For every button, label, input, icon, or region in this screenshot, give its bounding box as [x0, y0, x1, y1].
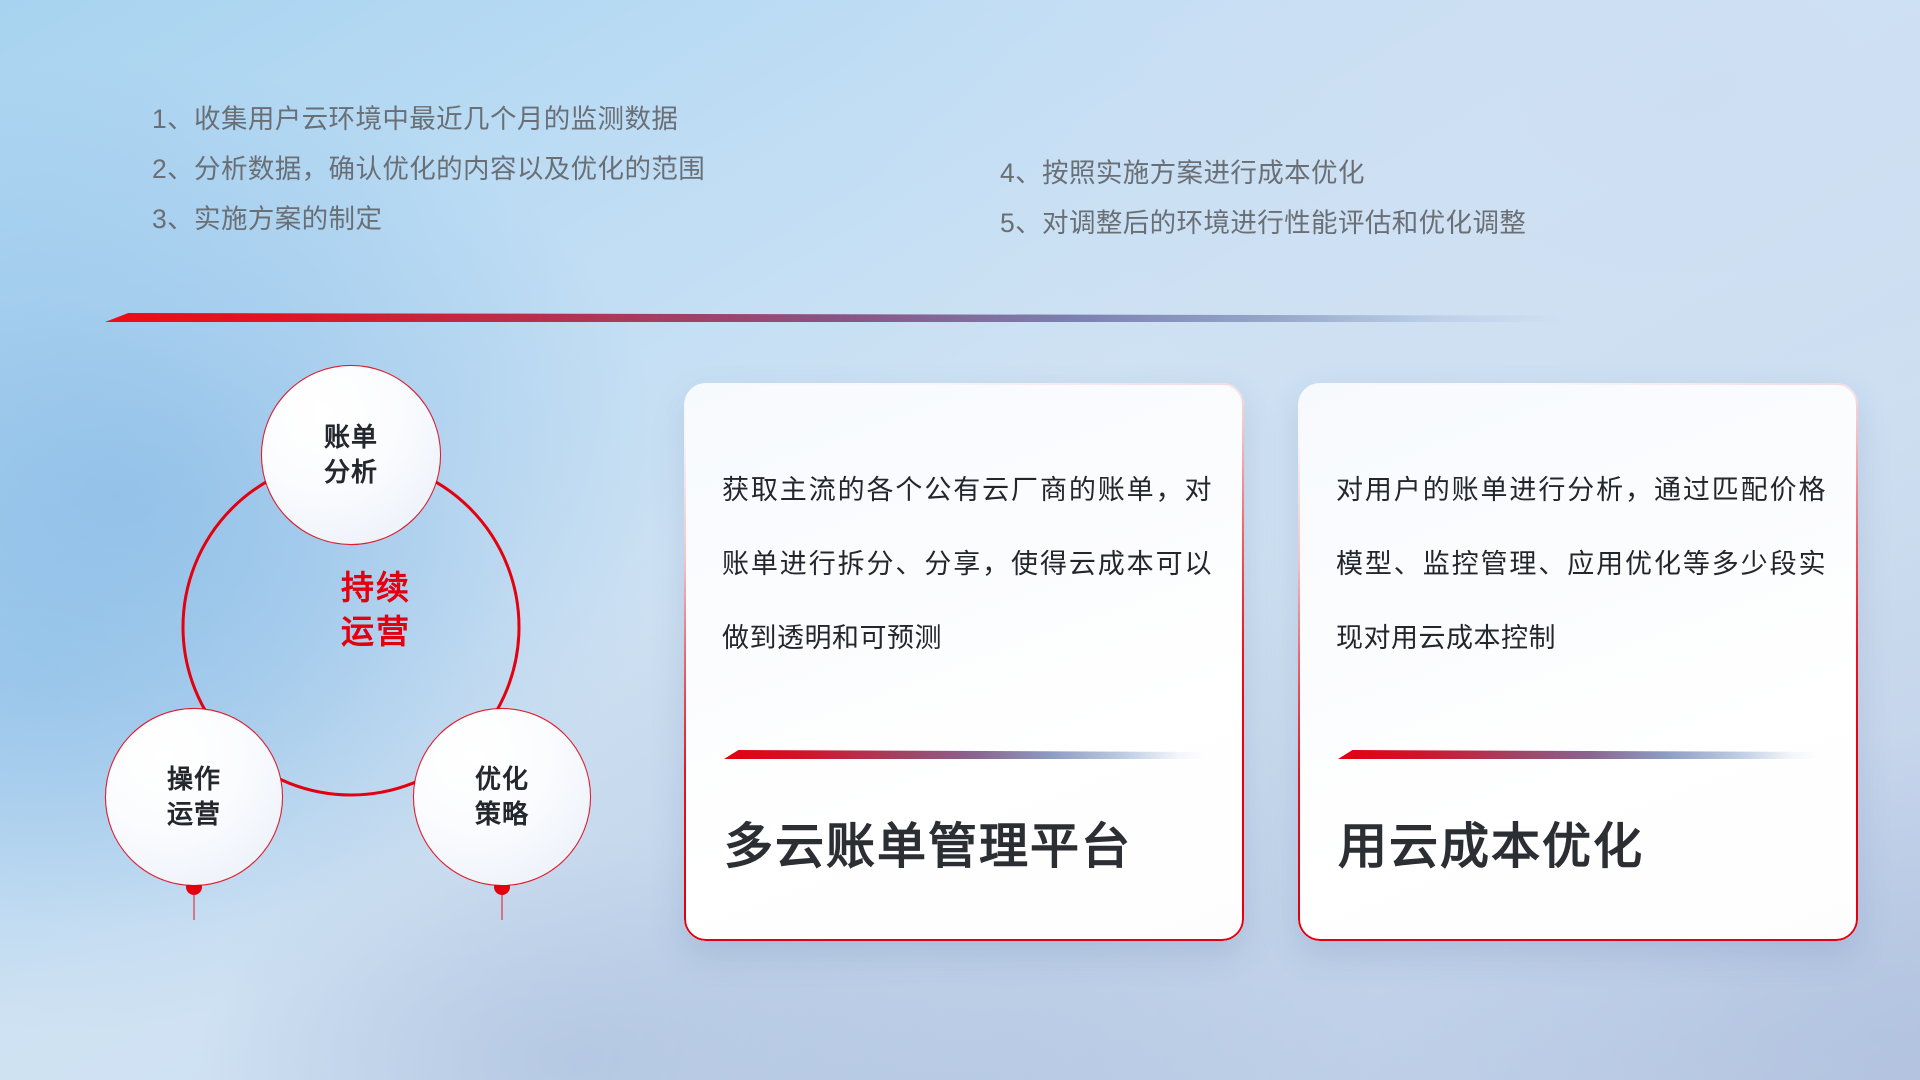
step-item-3: 3、实施方案的制定 — [152, 194, 852, 244]
cycle-bubble-billing-analysis-line1: 账单 — [324, 420, 378, 455]
cycle-diagram: 账单 分析 操作 运营 优化 策略 持续 运营 — [96, 352, 656, 932]
steps-left-column: 1、收集用户云环境中最近几个月的监测数据 2、分析数据，确认优化的内容以及优化的… — [152, 94, 852, 244]
cycle-bubble-operations-line2: 运营 — [167, 797, 221, 832]
cycle-center-label: 持续 运营 — [96, 566, 656, 654]
feature-card-cloud-cost-optimization-rule — [1338, 750, 1820, 759]
feature-card-cloud-cost-optimization-body: 对用户的账单进行分析，通过匹配价格模型、监控管理、应用优化等多少段实现对用云成本… — [1336, 453, 1826, 675]
cycle-bubble-optimization-strategy[interactable]: 优化 策略 — [414, 709, 590, 885]
step-item-5: 5、对调整后的环境进行性能评估和优化调整 — [1000, 198, 1760, 248]
feature-card-cloud-cost-optimization-title: 用云成本优化 — [1338, 807, 1644, 878]
feature-card-multicloud-billing[interactable]: 获取主流的各个公有云厂商的账单，对账单进行拆分、分享，使得云成本可以做到透明和可… — [684, 383, 1244, 941]
steps-right-column: 4、按照实施方案进行成本优化 5、对调整后的环境进行性能评估和优化调整 — [1000, 148, 1760, 248]
cycle-bubble-optimization-strategy-line2: 策略 — [475, 797, 529, 832]
step-item-4: 4、按照实施方案进行成本优化 — [1000, 148, 1760, 198]
feature-card-multicloud-billing-body: 获取主流的各个公有云厂商的账单，对账单进行拆分、分享，使得云成本可以做到透明和可… — [722, 453, 1212, 675]
feature-card-multicloud-billing-title: 多云账单管理平台 — [724, 807, 1132, 878]
cycle-bubble-billing-analysis[interactable]: 账单 分析 — [262, 366, 440, 544]
feature-card-cloud-cost-optimization[interactable]: 对用户的账单进行分析，通过匹配价格模型、监控管理、应用优化等多少段实现对用云成本… — [1298, 383, 1858, 941]
cycle-bubble-billing-analysis-line2: 分析 — [324, 455, 378, 490]
cycle-center-label-line2: 运营 — [96, 610, 656, 654]
step-item-2: 2、分析数据，确认优化的内容以及优化的范围 — [152, 144, 852, 194]
cycle-bubble-optimization-strategy-line1: 优化 — [475, 762, 529, 797]
cycle-bubble-operations-line1: 操作 — [167, 762, 221, 797]
cycle-bubble-operations[interactable]: 操作 运营 — [106, 709, 282, 885]
cycle-center-label-line1: 持续 — [96, 566, 656, 610]
section-divider-line — [105, 313, 1560, 322]
feature-card-multicloud-billing-rule — [724, 750, 1206, 759]
step-item-1: 1、收集用户云环境中最近几个月的监测数据 — [152, 94, 852, 144]
